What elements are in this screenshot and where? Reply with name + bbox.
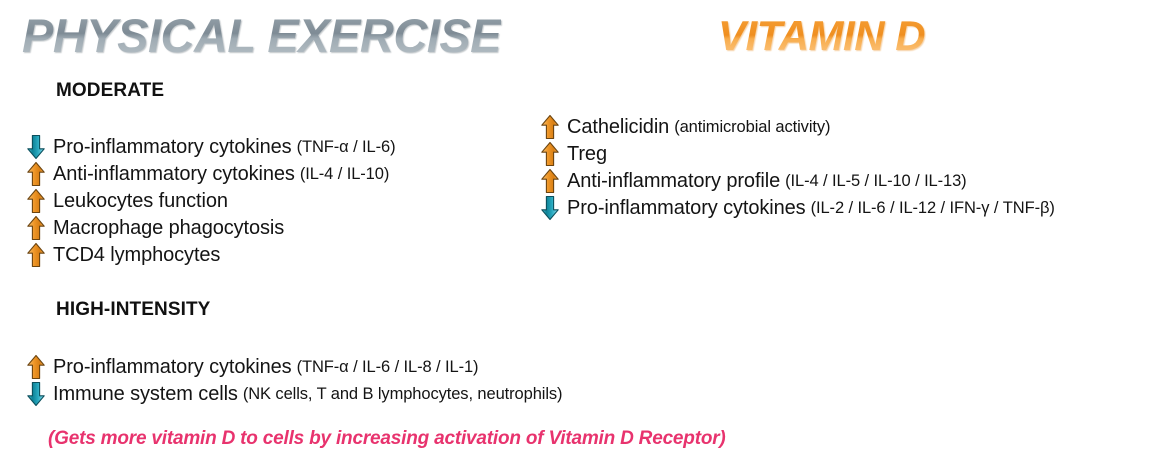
list-item: Leukocytes function xyxy=(26,187,395,214)
arrow-up-icon xyxy=(540,141,567,167)
arrow-down-icon xyxy=(26,134,53,160)
list-item: Pro-inflammatory cytokines(TNF-α / IL-6 … xyxy=(26,353,562,380)
list-item-note: (IL-4 / IL-10) xyxy=(300,162,389,186)
list-item-label: Immune system cells xyxy=(53,382,238,406)
list-item-label: Pro-inflammatory cytokines xyxy=(53,355,292,379)
list-high-intensity-exercise-effects: Pro-inflammatory cytokines(TNF-α / IL-6 … xyxy=(26,353,562,407)
list-item-note: (TNF-α / IL-6 / IL-8 / IL-1) xyxy=(297,355,479,379)
list-item: Pro-inflammatory cytokines(IL-2 / IL-6 /… xyxy=(540,194,1055,221)
list-moderate-exercise-effects: Pro-inflammatory cytokines(TNF-α / IL-6)… xyxy=(26,133,395,268)
list-item: TCD4 lymphocytes xyxy=(26,241,395,268)
section-heading-moderate: MODERATE xyxy=(56,80,164,102)
list-item-label: Anti-inflammatory cytokines xyxy=(53,162,295,186)
footnote-caption: (Gets more vitamin D to cells by increas… xyxy=(48,428,726,450)
arrow-up-icon xyxy=(26,354,53,380)
list-item-label: Macrophage phagocytosis xyxy=(53,216,284,240)
list-vitamin-d-effects: Cathelicidin(antimicrobial activity)Treg… xyxy=(540,113,1055,221)
slide-root: { "colors": { "background": "#ffffff", "… xyxy=(0,0,1156,463)
list-item-label: Pro-inflammatory cytokines xyxy=(567,196,806,220)
list-item-label: Cathelicidin xyxy=(567,115,669,139)
list-item-label: Treg xyxy=(567,142,607,166)
section-heading-high-intensity: HIGH-INTENSITY xyxy=(56,299,210,321)
arrow-up-icon xyxy=(26,242,53,268)
list-item: Treg xyxy=(540,140,1055,167)
list-item: Pro-inflammatory cytokines(TNF-α / IL-6) xyxy=(26,133,395,160)
list-item: Macrophage phagocytosis xyxy=(26,214,395,241)
arrow-up-icon xyxy=(540,168,567,194)
list-item-label: Leukocytes function xyxy=(53,189,228,213)
arrow-down-icon xyxy=(540,195,567,221)
arrow-up-icon xyxy=(540,114,567,140)
list-item: Anti-inflammatory profile(IL-4 / IL-5 / … xyxy=(540,167,1055,194)
list-item-note: (IL-4 / IL-5 / IL-10 / IL-13) xyxy=(785,169,966,193)
arrow-up-icon xyxy=(26,188,53,214)
list-item-label: Pro-inflammatory cytokines xyxy=(53,135,292,159)
list-item-label: TCD4 lymphocytes xyxy=(53,243,220,267)
list-item-note: (IL-2 / IL-6 / IL-12 / IFN-γ / TNF-β) xyxy=(811,196,1055,220)
list-item: Immune system cells(NK cells, T and B ly… xyxy=(26,380,562,407)
list-item: Anti-inflammatory cytokines(IL-4 / IL-10… xyxy=(26,160,395,187)
list-item-note: (TNF-α / IL-6) xyxy=(297,135,396,159)
list-item-note: (NK cells, T and B lymphocytes, neutroph… xyxy=(243,382,563,406)
list-item-note: (antimicrobial activity) xyxy=(674,115,830,139)
list-item: Cathelicidin(antimicrobial activity) xyxy=(540,113,1055,140)
arrow-up-icon xyxy=(26,161,53,187)
list-item-label: Anti-inflammatory profile xyxy=(567,169,780,193)
page-title-vitamin-d: VITAMIN D xyxy=(718,12,925,60)
page-title-physical-exercise: PHYSICAL EXERCISE xyxy=(22,10,501,62)
arrow-down-icon xyxy=(26,381,53,407)
arrow-up-icon xyxy=(26,215,53,241)
